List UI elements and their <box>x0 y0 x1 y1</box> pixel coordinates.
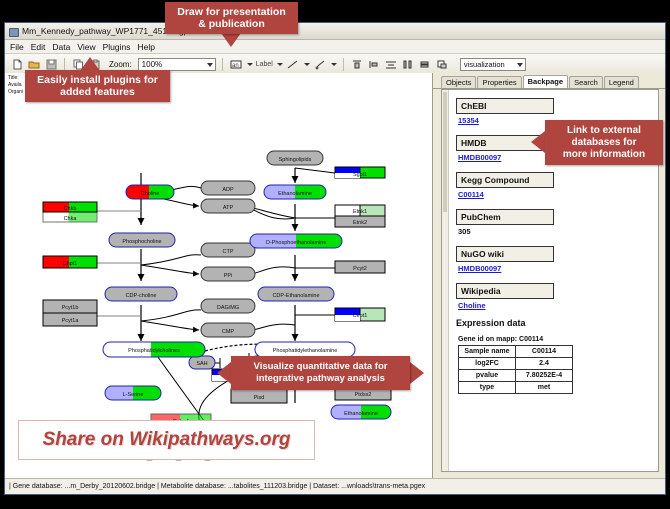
connector-icon[interactable] <box>313 57 327 71</box>
db-header-wikipedia: Wikipedia <box>456 283 554 299</box>
callout-external-db: Link to external databases for more info… <box>545 120 663 165</box>
svg-text:Phosphatidylethanolamine: Phosphatidylethanolamine <box>273 348 338 354</box>
callout-visualize: Visualize quantitative data for integrat… <box>231 356 410 390</box>
toolbar-separator <box>64 58 65 71</box>
svg-text:ADP: ADP <box>222 187 234 193</box>
node-phosphatidylethanolamine: Phosphatidylethanolamine <box>255 342 355 357</box>
node-chka: Chka <box>43 212 97 222</box>
svg-text:Pcyt1a: Pcyt1a <box>62 318 80 324</box>
svg-text:Ptdss2: Ptdss2 <box>355 392 372 398</box>
svg-text:Pcyt1b: Pcyt1b <box>62 305 79 311</box>
callout-external-line3: more information <box>563 149 645 161</box>
svg-text:CDP-Ethanolamine: CDP-Ethanolamine <box>272 293 319 299</box>
node-cept1: Cept1 <box>335 308 385 321</box>
svg-text:an: an <box>232 63 239 69</box>
status-bar: | Gene database: ...m_Derby_20120602.bri… <box>5 478 665 494</box>
svg-text:Phosphatidylcholines: Phosphatidylcholines <box>128 348 180 354</box>
toolbar-separator-3 <box>343 58 344 71</box>
callout-external-line1: Link to external <box>567 125 641 137</box>
node-pisd: Pisd <box>231 389 287 403</box>
table-row: pvalue 7.80252E-4 <box>459 370 573 382</box>
callout-plugins-line1: Easily install plugins for <box>37 74 158 86</box>
svg-text:Sphingolipids: Sphingolipids <box>279 157 312 163</box>
svg-text:Ethanolamine: Ethanolamine <box>344 411 378 417</box>
node-phosphatidylcholines: Phosphatidylcholines <box>103 342 205 357</box>
node-ethanolamine: Ethanolamine <box>264 185 326 199</box>
label-dropdown-label: Label <box>256 61 273 68</box>
callout-draw-tail <box>221 33 241 47</box>
node-ethanolamine-low: Ethanolamine <box>331 405 391 419</box>
node-cdp-ethanolamine: CDP-Ethanolamine <box>258 287 334 301</box>
node-phosphocholine: Phosphocholine <box>109 233 175 247</box>
node-cdp-choline: CDP-choline <box>105 287 177 301</box>
node-dagmg: DAG/MG <box>201 299 255 313</box>
cell-value-type: met <box>516 382 573 394</box>
zoom-label: Zoom: <box>109 60 132 69</box>
svg-text:SAH: SAH <box>196 361 207 367</box>
tab-search[interactable]: Search <box>569 76 603 88</box>
side-tabs: Objects Properties Backpage Search Legen… <box>433 73 665 89</box>
callout-plugins: Easily install plugins for added feature… <box>25 70 170 102</box>
bring-front-icon[interactable] <box>435 57 449 71</box>
svg-text:CDP-choline: CDP-choline <box>126 293 157 299</box>
menu-item-file[interactable]: File <box>10 42 24 52</box>
svg-text:PPi: PPi <box>224 273 233 279</box>
node-adp: ADP <box>201 181 255 195</box>
expression-data-title: Expression data <box>456 318 654 328</box>
node-sphingolipids: Sphingolipids <box>267 151 323 165</box>
svg-text:ATP: ATP <box>223 205 234 211</box>
scrollbar-thumb[interactable] <box>443 92 447 212</box>
zoom-combobox[interactable]: 100% <box>138 58 216 71</box>
callout-plugins-line2: added features <box>60 86 135 98</box>
svg-text:O-Phosphoethanolamine: O-Phosphoethanolamine <box>266 240 327 246</box>
svg-text:Sgpl1: Sgpl1 <box>353 172 367 178</box>
chevron-down-icon-datanode[interactable] <box>247 63 253 66</box>
save-icon[interactable] <box>44 57 58 71</box>
expression-table: Sample name C00114 log2FC 2.4 pvalue 7.8… <box>458 345 573 394</box>
table-row: log2FC 2.4 <box>459 358 573 370</box>
backpage-scrollbar[interactable] <box>442 90 449 471</box>
table-row: type met <box>459 382 573 394</box>
svg-text:L-Serine: L-Serine <box>123 392 144 398</box>
cell-label-log2fc: log2FC <box>459 358 516 370</box>
svg-text:Choline: Choline <box>141 191 160 197</box>
distribute-icon[interactable] <box>384 57 398 71</box>
menu-item-data[interactable]: Data <box>52 42 70 52</box>
callout-draw-line1: Draw for presentation <box>177 6 286 18</box>
zoom-value: 100% <box>142 60 162 69</box>
cell-label-sample: Sample name <box>459 346 516 358</box>
callout-plugins-tail <box>80 57 100 71</box>
title-bar: Mm_Kennedy_pathway_WP1771_45176.gpml <box>5 23 665 40</box>
tab-backpage[interactable]: Backpage <box>523 75 568 88</box>
node-etnk2: Etnk2 <box>335 216 385 227</box>
node-chpt1: Chpt1 <box>43 256 97 268</box>
align-left-icon[interactable] <box>367 57 381 71</box>
svg-text:Ethanolamine: Ethanolamine <box>278 191 312 197</box>
toolbar-separator-2 <box>222 58 223 71</box>
menu-item-plugins[interactable]: Plugins <box>103 42 131 52</box>
svg-text:Pisd: Pisd <box>254 395 265 401</box>
svg-text:Phosphocholine: Phosphocholine <box>122 239 161 245</box>
tab-properties[interactable]: Properties <box>477 76 521 88</box>
chevron-down-icon-connector[interactable] <box>331 63 337 66</box>
menu-item-help[interactable]: Help <box>138 42 155 52</box>
node-chkb: Chkb <box>43 202 97 212</box>
callout-visualize-line2: integrative pathway analysis <box>256 373 385 385</box>
node-ppi: PPi <box>201 267 255 281</box>
gene-id-line: Gene id on mapp: C00114 <box>458 336 654 343</box>
table-row: Sample name C00114 <box>459 346 573 358</box>
svg-text:CTP: CTP <box>223 249 234 255</box>
same-width-icon[interactable] <box>401 57 415 71</box>
node-ctp: CTP <box>201 243 255 257</box>
chevron-down-icon <box>207 63 213 67</box>
open-icon[interactable] <box>27 57 41 71</box>
datanode-icon[interactable]: an <box>229 57 243 71</box>
menu-item-view[interactable]: View <box>77 42 95 52</box>
chevron-down-icon-label[interactable] <box>277 63 283 66</box>
node-sah: SAH <box>189 356 215 369</box>
node-l-serine-left: L-Serine <box>105 386 161 400</box>
node-choline-top: Choline <box>126 185 174 199</box>
node-cmp: CMP <box>201 323 255 337</box>
svg-text:Chkb: Chkb <box>64 206 77 212</box>
tab-legend[interactable]: Legend <box>604 76 639 88</box>
tab-objects[interactable]: Objects <box>441 76 476 88</box>
db-header-nugo: NuGO wiki <box>456 246 554 262</box>
line-icon[interactable] <box>286 57 300 71</box>
db-header-chebi: ChEBI <box>456 98 554 114</box>
cell-value-log2fc: 2.4 <box>516 358 573 370</box>
screenshot-root: Mm_Kennedy_pathway_WP1771_45176.gpml Fil… <box>0 0 670 509</box>
db-header-pubchem: PubChem <box>456 209 554 225</box>
db-header-kegg: Kegg Compound <box>456 172 554 188</box>
node-pcyt1b: Pcyt1b <box>43 300 97 313</box>
svg-text:Pcyt2: Pcyt2 <box>353 266 367 272</box>
pathway-graphic[interactable]: Sphingolipids ADP ATP CTP PPi <box>5 73 432 478</box>
share-text: Share on Wikipathways.org <box>43 429 291 451</box>
svg-text:Etnk2: Etnk2 <box>353 220 367 226</box>
chevron-down-icon-line[interactable] <box>304 63 310 66</box>
svg-text:CMP: CMP <box>222 329 235 335</box>
node-etnk1: Etnk1 <box>335 205 385 216</box>
chevron-down-icon-visualization <box>517 63 523 67</box>
callout-draw-line2: & publication <box>198 18 265 30</box>
svg-text:Chpt1: Chpt1 <box>63 261 78 267</box>
menu-item-edit[interactable]: Edit <box>31 42 46 52</box>
cell-value-pvalue: 7.80252E-4 <box>516 370 573 382</box>
app-icon <box>8 26 18 36</box>
svg-text:Cept1: Cept1 <box>353 313 368 319</box>
menu-bar: File Edit Data View Plugins Help <box>5 40 665 54</box>
new-icon[interactable] <box>10 57 24 71</box>
node-atp: ATP <box>201 199 255 213</box>
callout-visualize-tail-right <box>410 362 424 384</box>
db-link-kegg[interactable]: C00114 <box>458 190 654 199</box>
visualization-combobox[interactable]: visualization <box>460 58 526 71</box>
svg-text:Etnk1: Etnk1 <box>353 209 367 215</box>
align-top-icon[interactable] <box>350 57 364 71</box>
callout-visualize-tail-left <box>217 362 231 384</box>
node-o-phosphoethanolamine: O-Phosphoethanolamine <box>250 234 342 248</box>
svg-text:Chka: Chka <box>64 216 78 222</box>
callout-draw: Draw for presentation & publication <box>165 2 298 34</box>
node-pcyt2: Pcyt2 <box>335 261 385 273</box>
visualization-value: visualization <box>464 60 505 69</box>
db-link-wikipedia[interactable]: Choline <box>458 301 654 310</box>
db-link-nugo[interactable]: HMDB00097 <box>458 264 654 273</box>
node-pcyt1a: Pcyt1a <box>43 313 97 326</box>
db-value-pubchem: 305 <box>458 227 654 236</box>
share-banner: Share on Wikipathways.org <box>18 420 315 460</box>
status-text: | Gene database: ...m_Derby_20120602.bri… <box>9 483 425 490</box>
cell-value-sample: C00114 <box>516 346 573 358</box>
callout-external-tail <box>531 131 545 153</box>
callout-visualize-line1: Visualize quantitative data for <box>254 361 388 373</box>
node-sgpl1: Sgpl1 <box>335 167 385 178</box>
callout-external-line2: databases for <box>571 137 636 149</box>
svg-text:DAG/MG: DAG/MG <box>217 305 239 311</box>
cell-label-pvalue: pvalue <box>459 370 516 382</box>
cell-label-type: type <box>459 382 516 394</box>
pathway-canvas[interactable]: Title: Availa Organi <box>5 73 433 478</box>
stack-icon[interactable] <box>418 57 432 71</box>
